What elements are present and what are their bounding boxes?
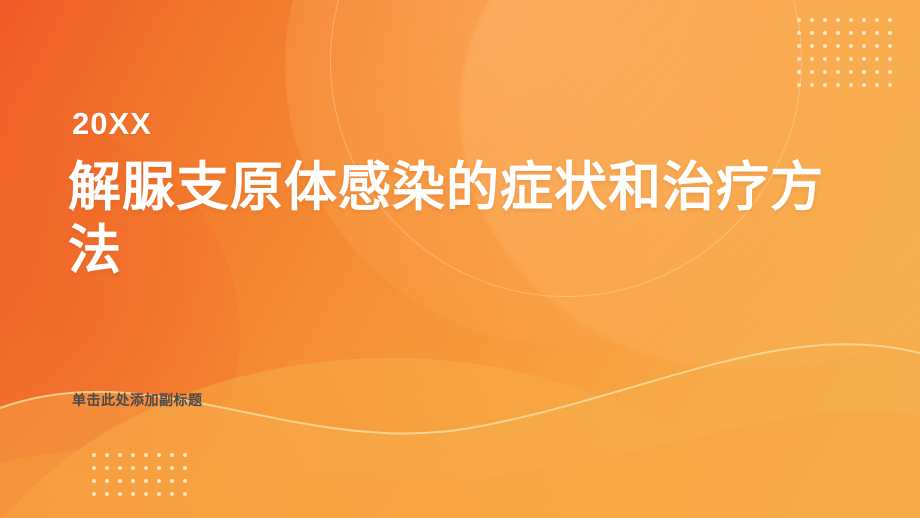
dot	[823, 70, 827, 74]
dot	[862, 44, 866, 48]
dot	[118, 492, 122, 496]
dot	[862, 31, 866, 35]
dot	[797, 70, 801, 74]
dot	[849, 44, 853, 48]
dot	[823, 57, 827, 61]
title-block: 20XX 解脲支原体感染的症状和治疗方法	[68, 108, 868, 282]
dot	[105, 492, 109, 496]
dot	[888, 83, 892, 87]
dot	[849, 18, 853, 22]
dot	[170, 479, 174, 483]
dot	[875, 83, 879, 87]
dot	[875, 44, 879, 48]
year-label: 20XX	[72, 108, 868, 139]
dot	[823, 31, 827, 35]
dot	[810, 31, 814, 35]
dot	[849, 70, 853, 74]
dot	[183, 466, 187, 470]
dot	[875, 18, 879, 22]
dot	[131, 492, 135, 496]
dot	[157, 453, 161, 457]
dot	[810, 57, 814, 61]
dot	[836, 44, 840, 48]
dot	[836, 70, 840, 74]
dot	[797, 44, 801, 48]
dot	[810, 83, 814, 87]
dot	[170, 492, 174, 496]
dot	[888, 57, 892, 61]
dot	[92, 466, 96, 470]
dot	[157, 492, 161, 496]
dot	[170, 453, 174, 457]
dot	[144, 453, 148, 457]
subtitle-placeholder[interactable]: 单击此处添加副标题	[72, 390, 203, 410]
dot	[888, 70, 892, 74]
dot	[131, 479, 135, 483]
dot	[862, 57, 866, 61]
dot	[810, 18, 814, 22]
dot	[118, 479, 122, 483]
dot	[144, 479, 148, 483]
dot	[849, 83, 853, 87]
dot	[183, 492, 187, 496]
dot	[810, 70, 814, 74]
dot	[105, 466, 109, 470]
dot	[823, 83, 827, 87]
dot	[888, 31, 892, 35]
dot	[92, 453, 96, 457]
dot	[144, 492, 148, 496]
dot	[849, 57, 853, 61]
dot	[105, 479, 109, 483]
dot	[157, 466, 161, 470]
dot	[797, 83, 801, 87]
dot	[131, 453, 135, 457]
dot	[862, 83, 866, 87]
dot	[170, 466, 174, 470]
dot	[823, 18, 827, 22]
dot	[797, 18, 801, 22]
dot	[797, 31, 801, 35]
dot	[875, 31, 879, 35]
dot	[875, 57, 879, 61]
dot	[862, 70, 866, 74]
dot	[92, 479, 96, 483]
dot	[888, 18, 892, 22]
dot	[862, 18, 866, 22]
dot	[836, 83, 840, 87]
dot	[823, 44, 827, 48]
dot	[875, 70, 879, 74]
dot	[92, 492, 96, 496]
dot	[105, 453, 109, 457]
dot	[836, 18, 840, 22]
title-slide: 20XX 解脲支原体感染的症状和治疗方法 单击此处添加副标题	[0, 0, 920, 518]
dot-grid-bottom-left	[92, 453, 187, 496]
dot	[144, 466, 148, 470]
dot	[836, 31, 840, 35]
dot	[888, 44, 892, 48]
dot	[183, 453, 187, 457]
dot	[118, 466, 122, 470]
dot	[797, 57, 801, 61]
dot	[157, 479, 161, 483]
dot	[836, 57, 840, 61]
dot	[131, 466, 135, 470]
dot-grid-top-right	[797, 18, 892, 87]
dot	[118, 453, 122, 457]
dot	[849, 31, 853, 35]
dot	[183, 479, 187, 483]
dot	[810, 44, 814, 48]
page-title: 解脲支原体感染的症状和治疗方法	[68, 157, 858, 282]
